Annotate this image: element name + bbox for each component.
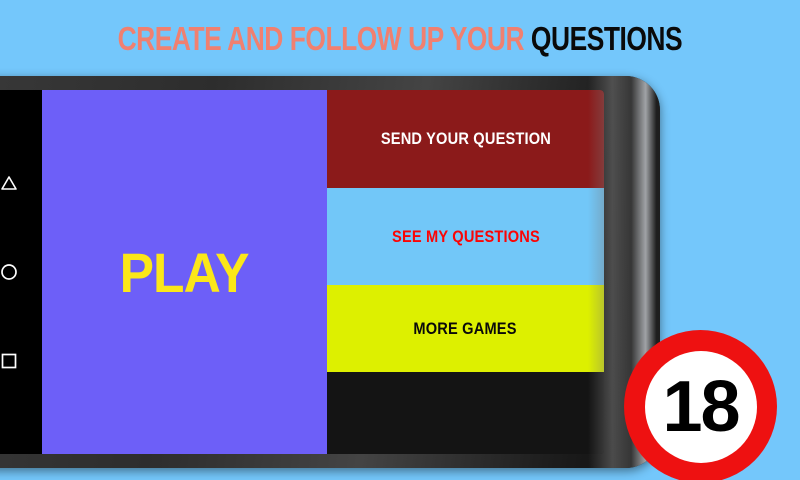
page-title-part-two: QUESTIONS bbox=[531, 20, 682, 57]
phone-device-frame: PLAY SEND YOUR QUESTION SEE MY QUESTIONS… bbox=[0, 76, 660, 468]
menu-panel: SEND YOUR QUESTION SEE MY QUESTIONS MORE… bbox=[327, 90, 604, 454]
app-content-area: PLAY SEND YOUR QUESTION SEE MY QUESTIONS… bbox=[42, 90, 604, 454]
phone-screen: PLAY SEND YOUR QUESTION SEE MY QUESTIONS… bbox=[0, 90, 604, 454]
more-games-label: MORE GAMES bbox=[414, 319, 517, 339]
home-icon[interactable] bbox=[0, 262, 19, 282]
age-rating-inner-circle: 18 bbox=[645, 351, 757, 463]
play-button-label: PLAY bbox=[120, 240, 249, 305]
back-icon[interactable] bbox=[0, 173, 19, 193]
promo-screenshot-root: CREATE AND FOLLOW UP YOUR QUESTIONS bbox=[0, 0, 800, 480]
play-button[interactable]: PLAY bbox=[42, 90, 327, 454]
see-my-questions-button[interactable]: SEE MY QUESTIONS bbox=[327, 188, 604, 285]
header-banner: CREATE AND FOLLOW UP YOUR QUESTIONS bbox=[0, 0, 800, 78]
more-games-button[interactable]: MORE GAMES bbox=[327, 285, 604, 372]
page-title: CREATE AND FOLLOW UP YOUR QUESTIONS bbox=[118, 20, 683, 58]
age-rating-badge: 18 bbox=[624, 330, 777, 480]
menu-panel-filler bbox=[327, 372, 604, 454]
page-title-part-one: CREATE AND FOLLOW UP YOUR bbox=[118, 20, 524, 57]
android-navigation-bar[interactable] bbox=[0, 90, 42, 454]
age-rating-value: 18 bbox=[662, 371, 738, 443]
send-your-question-label: SEND YOUR QUESTION bbox=[380, 129, 550, 149]
send-your-question-button[interactable]: SEND YOUR QUESTION bbox=[327, 90, 604, 188]
recents-icon[interactable] bbox=[0, 351, 19, 371]
see-my-questions-label: SEE MY QUESTIONS bbox=[392, 227, 540, 247]
